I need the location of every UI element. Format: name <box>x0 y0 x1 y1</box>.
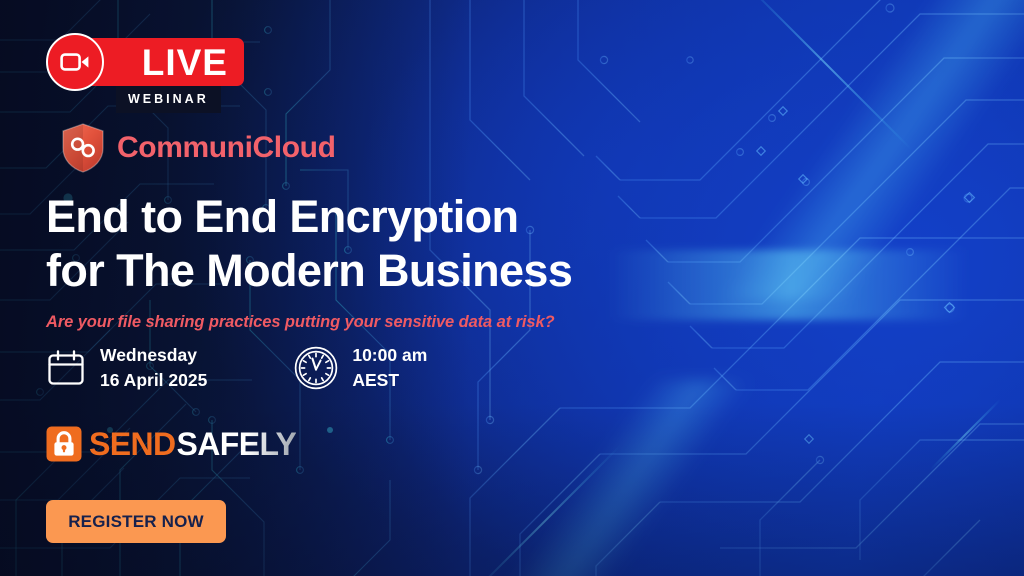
brand-name: CommuniCloud <box>117 133 336 163</box>
calendar-icon <box>46 348 86 388</box>
video-camera-icon <box>60 52 90 72</box>
live-circle <box>46 33 104 91</box>
webinar-promo-banner: LIVE WEBINAR <box>0 0 1024 576</box>
detail-date: Wednesday 16 April 2025 <box>46 345 207 392</box>
clock-icon <box>294 346 338 390</box>
event-details: Wednesday 16 April 2025 <box>46 345 427 392</box>
live-label: LIVE <box>142 44 228 81</box>
register-now-button[interactable]: REGISTER NOW <box>46 500 226 543</box>
detail-date-line-2: 16 April 2025 <box>100 370 207 392</box>
detail-time-line-2: AEST <box>352 370 427 392</box>
shield-infinity-icon <box>60 122 106 174</box>
content-column: LIVE WEBINAR <box>44 0 664 576</box>
live-webinar-badge: LIVE WEBINAR <box>46 33 246 109</box>
detail-date-lines: Wednesday 16 April 2025 <box>100 345 207 392</box>
subtitle: Are your file sharing practices putting … <box>46 313 555 332</box>
sponsor-logo: SEND SAFELY <box>46 426 296 462</box>
glow-streak-top <box>700 0 1024 300</box>
brand-lockup: CommuniCloud <box>60 122 336 174</box>
detail-time: 10:00 am AEST <box>294 345 427 392</box>
detail-time-line-1: 10:00 am <box>352 345 427 367</box>
headline-line-1: End to End Encryption <box>46 191 518 242</box>
detail-time-lines: 10:00 am AEST <box>352 345 427 392</box>
headline-line-2: for The Modern Business <box>46 245 572 296</box>
webinar-label: WEBINAR <box>128 92 209 106</box>
sponsor-word-safely: SAFELY <box>177 428 297 460</box>
detail-date-line-1: Wednesday <box>100 345 207 367</box>
webinar-chip: WEBINAR <box>116 86 221 113</box>
page-title: End to End Encryption for The Modern Bus… <box>46 190 646 298</box>
sponsor-word-send: SEND <box>89 428 176 460</box>
padlock-icon <box>46 426 82 462</box>
